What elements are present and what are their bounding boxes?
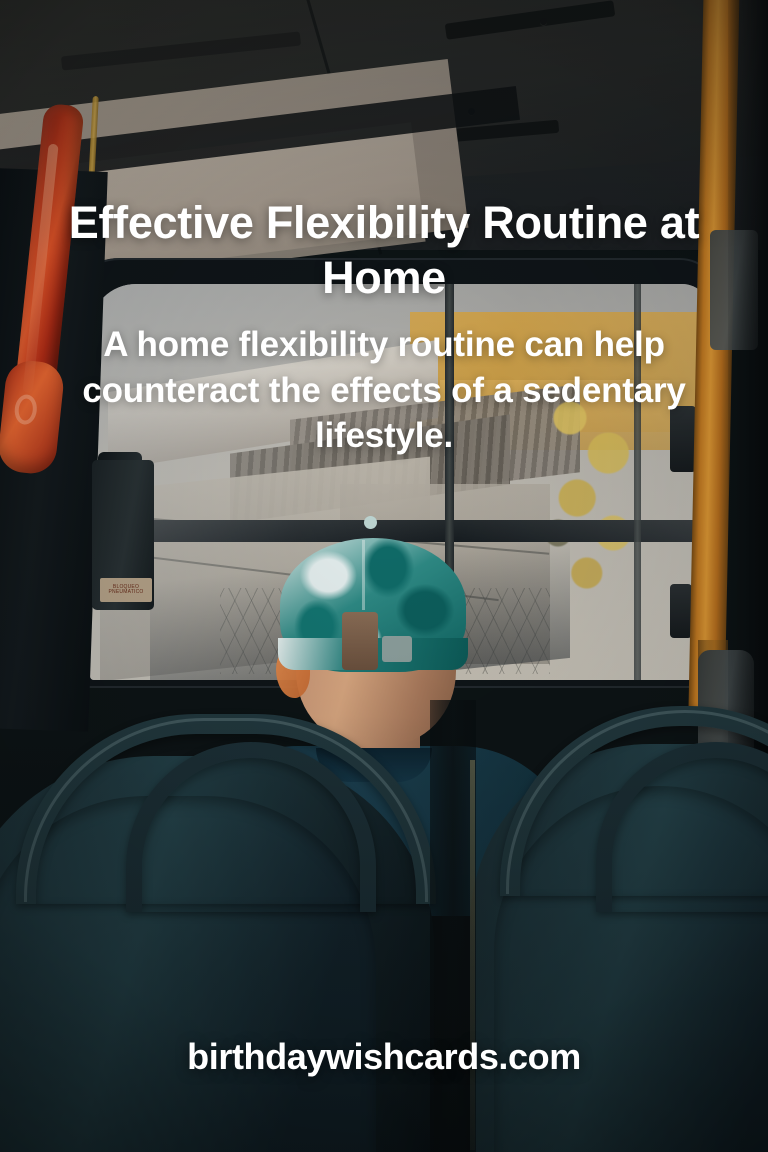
pinterest-pin-card: BLOQUEO PNEUMATICO — [0, 0, 768, 1152]
text-overlay: Effective Flexibility Routine at Home A … — [0, 0, 768, 1152]
pin-footer-url: birthdaywishcards.com — [0, 1036, 768, 1078]
pin-title: Effective Flexibility Routine at Home — [0, 196, 768, 306]
pin-subtitle: A home flexibility routine can help coun… — [0, 322, 768, 459]
